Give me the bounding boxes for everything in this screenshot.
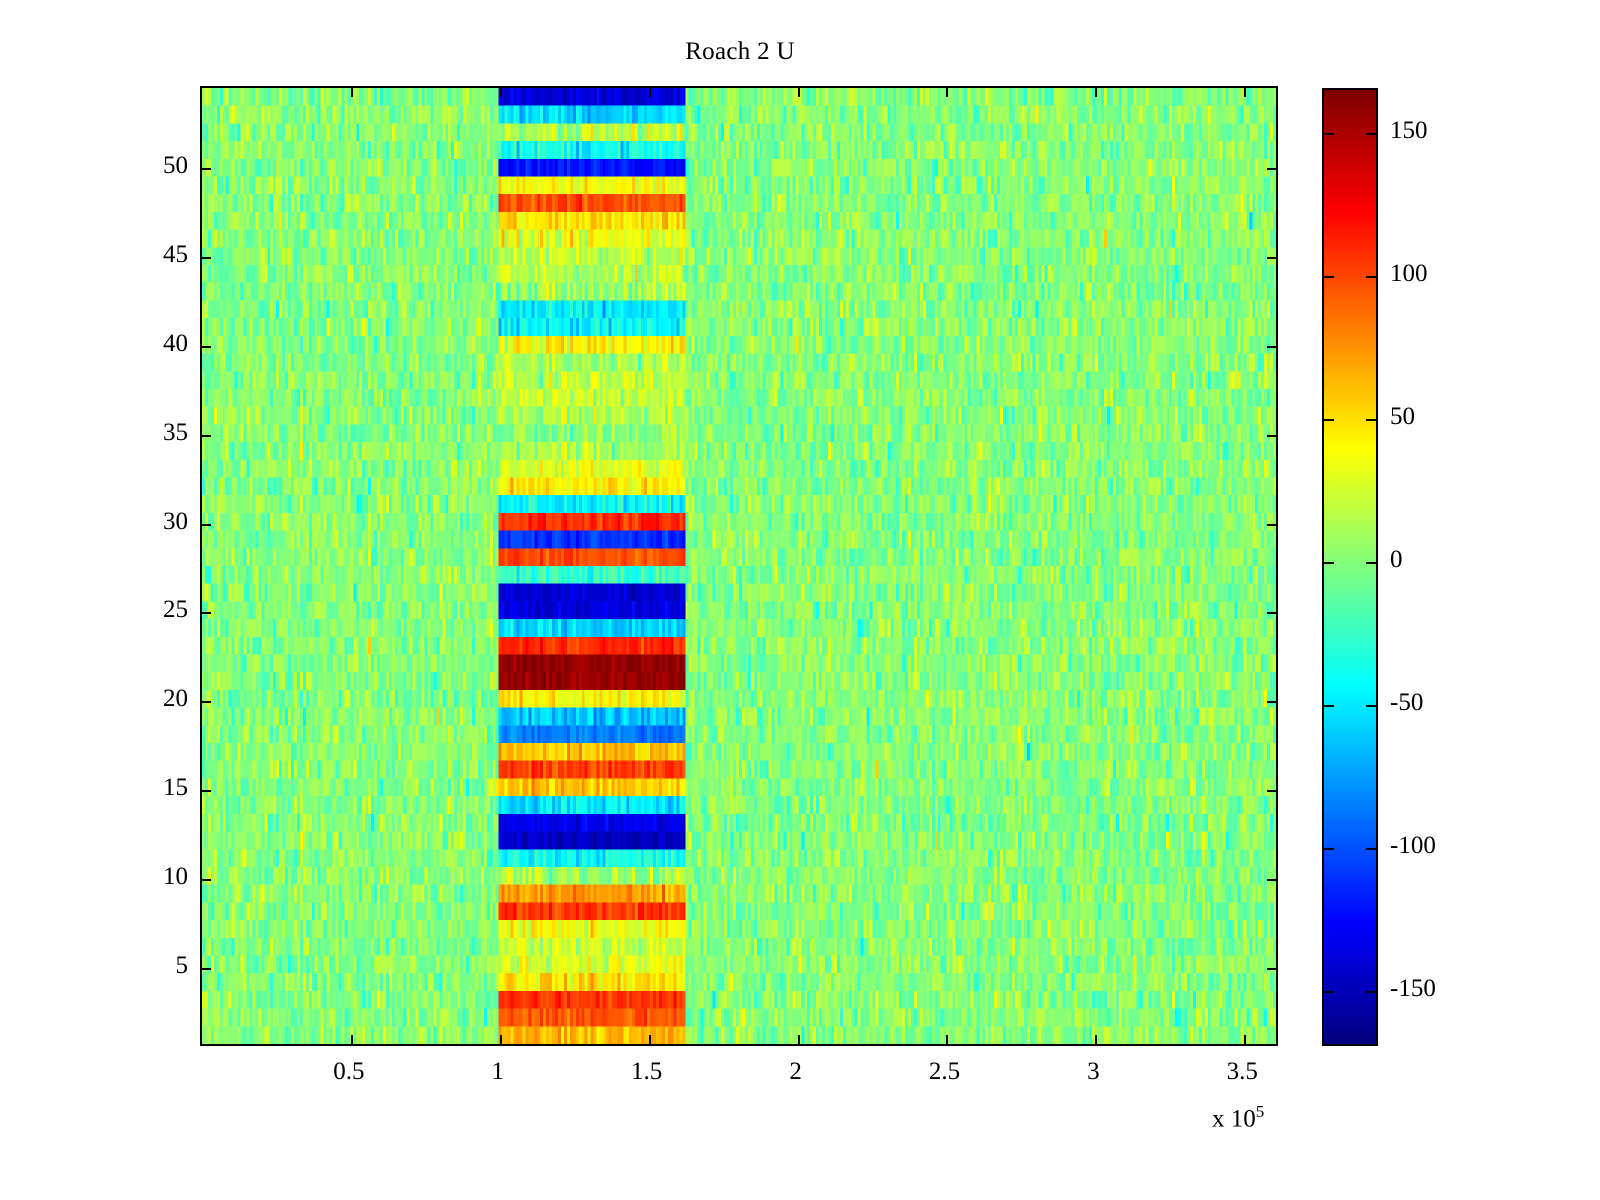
x-tick-label-0: 0.5: [333, 1058, 364, 1086]
y-tick-label-8: 45: [110, 241, 188, 269]
y-tick-9: [202, 168, 211, 170]
x-tick-0: [351, 1035, 353, 1044]
colorbar-tick-left-0: [1324, 991, 1334, 993]
colorbar-tick-left-3: [1324, 562, 1334, 564]
exponent-power: 5: [1256, 1102, 1265, 1121]
y-tick-right-2: [1267, 790, 1276, 792]
colorbar-tick-right-0: [1366, 991, 1376, 993]
colorbar-tick-left-2: [1324, 705, 1334, 707]
y-tick-right-0: [1267, 968, 1276, 970]
y-tick-label-6: 35: [110, 419, 188, 447]
y-tick-label-7: 40: [110, 330, 188, 358]
x-tick-top-2: [649, 88, 651, 97]
y-tick-right-5: [1267, 524, 1276, 526]
exponent-base: x 10: [1212, 1105, 1256, 1132]
x-tick-top-0: [351, 88, 353, 97]
colorbar-tick-left-4: [1324, 419, 1334, 421]
y-tick-5: [202, 524, 211, 526]
colorbar-tick-left-1: [1324, 848, 1334, 850]
y-tick-right-6: [1267, 435, 1276, 437]
colorbar-label-1: -100: [1390, 832, 1436, 860]
x-tick-3: [798, 1035, 800, 1044]
x-tick-label-2: 1.5: [631, 1058, 662, 1086]
y-tick-3: [202, 701, 211, 703]
y-tick-label-4: 25: [110, 596, 188, 624]
colorbar-tick-right-3: [1366, 562, 1376, 564]
y-tick-label-2: 15: [110, 774, 188, 802]
x-tick-top-1: [500, 88, 502, 97]
colorbar-gradient: [1324, 90, 1376, 1044]
colorbar[interactable]: [1322, 88, 1378, 1046]
colorbar-tick-left-5: [1324, 276, 1334, 278]
y-tick-right-4: [1267, 612, 1276, 614]
heatmap-axes[interactable]: [200, 86, 1278, 1046]
y-tick-2: [202, 790, 211, 792]
y-tick-label-1: 10: [110, 863, 188, 891]
y-tick-label-9: 50: [110, 152, 188, 180]
colorbar-tick-right-1: [1366, 848, 1376, 850]
y-tick-1: [202, 879, 211, 881]
heatmap-image: [202, 88, 1276, 1044]
x-tick-label-6: 3.5: [1227, 1058, 1258, 1086]
x-tick-label-1: 1: [492, 1058, 505, 1086]
colorbar-tick-right-2: [1366, 705, 1376, 707]
y-tick-7: [202, 346, 211, 348]
x-tick-4: [946, 1035, 948, 1044]
y-tick-right-3: [1267, 701, 1276, 703]
colorbar-label-4: 50: [1390, 403, 1415, 431]
x-tick-2: [649, 1035, 651, 1044]
y-tick-right-9: [1267, 168, 1276, 170]
colorbar-tick-right-5: [1366, 276, 1376, 278]
x-tick-top-3: [798, 88, 800, 97]
colorbar-label-3: 0: [1390, 546, 1403, 574]
y-tick-label-5: 30: [110, 508, 188, 536]
x-axis-exponent-label: x 105: [1212, 1102, 1264, 1133]
colorbar-label-0: -150: [1390, 975, 1436, 1003]
x-tick-1: [500, 1035, 502, 1044]
colorbar-tick-right-6: [1366, 133, 1376, 135]
colorbar-label-2: -50: [1390, 689, 1423, 717]
x-tick-label-5: 3: [1087, 1058, 1100, 1086]
x-tick-top-4: [946, 88, 948, 97]
y-tick-label-0: 5: [110, 952, 188, 980]
x-tick-top-6: [1244, 88, 1246, 97]
y-tick-4: [202, 612, 211, 614]
matlab-figure: Roach 2 U 0.511.522.533.5 51015202530354…: [0, 0, 1600, 1200]
colorbar-tick-left-6: [1324, 133, 1334, 135]
x-tick-top-5: [1095, 88, 1097, 97]
x-tick-6: [1244, 1035, 1246, 1044]
y-tick-right-1: [1267, 879, 1276, 881]
y-tick-right-7: [1267, 346, 1276, 348]
colorbar-label-6: 150: [1390, 117, 1428, 145]
colorbar-tick-right-4: [1366, 419, 1376, 421]
x-tick-label-3: 2: [789, 1058, 802, 1086]
y-tick-label-3: 20: [110, 685, 188, 713]
x-tick-label-4: 2.5: [929, 1058, 960, 1086]
y-tick-6: [202, 435, 211, 437]
page-title: Roach 2 U: [0, 38, 1480, 66]
y-tick-0: [202, 968, 211, 970]
colorbar-label-5: 100: [1390, 260, 1428, 288]
y-tick-right-8: [1267, 257, 1276, 259]
x-tick-5: [1095, 1035, 1097, 1044]
y-tick-8: [202, 257, 211, 259]
